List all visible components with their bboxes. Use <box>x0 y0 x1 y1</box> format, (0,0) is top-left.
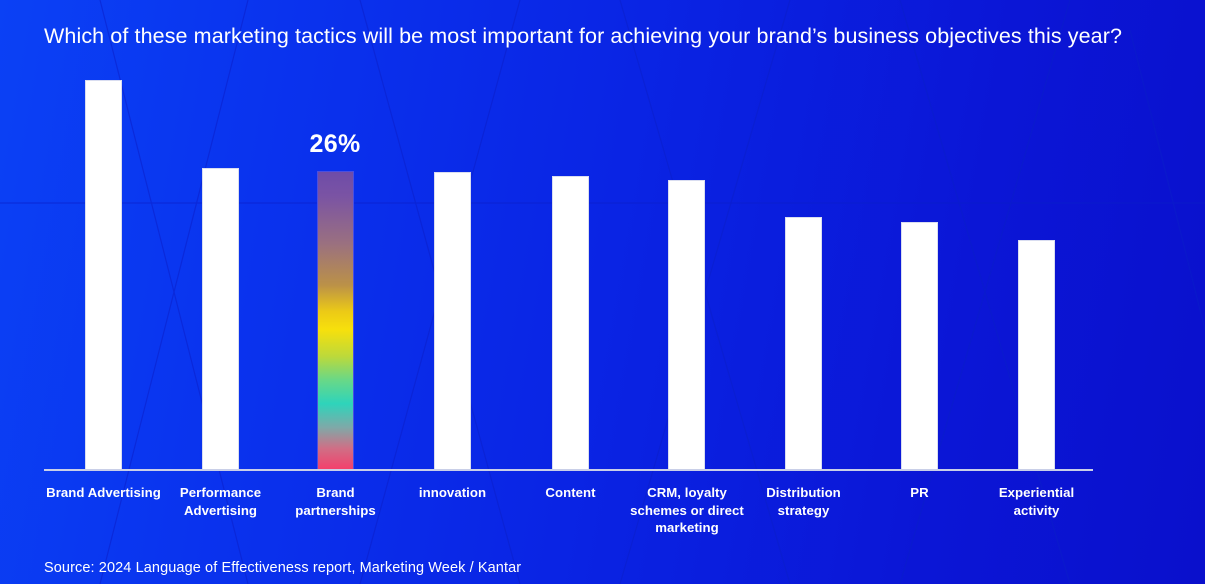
x-tick-label-distribution-strategy: Distribution strategy <box>743 484 864 519</box>
bar-value-label-brand-partnerships: 26% <box>275 130 395 159</box>
tick-line-1: Brand <box>275 484 396 502</box>
tick-line-3: marketing <box>620 519 754 537</box>
x-axis-line <box>44 469 1093 471</box>
x-tick-label-crm-loyalty: CRM, loyalty schemes or direct marketing <box>620 484 754 537</box>
bar-performance-advertising[interactable] <box>202 168 239 469</box>
bar-experiential-activity[interactable] <box>1018 240 1055 469</box>
x-tick-label-experiential-activity: Experiential activity <box>976 484 1097 519</box>
bar-brand-advertising[interactable] <box>85 80 122 469</box>
tick-line-1: Distribution <box>743 484 864 502</box>
x-tick-label-brand-advertising: Brand Advertising <box>43 484 164 502</box>
x-tick-label-innovation: innovation <box>392 484 513 502</box>
tick-line-1: CRM, loyalty <box>620 484 754 502</box>
tick-line-2: schemes or direct <box>620 502 754 520</box>
tick-line-1: Experiential <box>976 484 1097 502</box>
tick-line-1: Brand Advertising <box>43 484 164 502</box>
source-note: Source: 2024 Language of Effectiveness r… <box>44 560 521 576</box>
bar-brand-partnerships[interactable] <box>317 171 354 469</box>
x-tick-label-pr: PR <box>859 484 980 502</box>
x-tick-label-brand-partnerships: Brand partnerships <box>275 484 396 519</box>
tick-line-1: PR <box>859 484 980 502</box>
bar-distribution-strategy[interactable] <box>785 217 822 469</box>
x-tick-label-performance-advertising: Performance Advertising <box>160 484 281 519</box>
tick-line-1: Content <box>510 484 631 502</box>
tick-line-2: partnerships <box>275 502 396 520</box>
x-tick-label-content: Content <box>510 484 631 502</box>
slide-canvas: Which of these marketing tactics will be… <box>0 0 1205 584</box>
bar-innovation[interactable] <box>434 172 471 469</box>
bar-pr[interactable] <box>901 222 938 469</box>
tick-line-2: strategy <box>743 502 864 520</box>
tick-line-1: innovation <box>392 484 513 502</box>
bar-content[interactable] <box>552 176 589 469</box>
tick-line-1: Performance <box>160 484 281 502</box>
bar-chart-plot: 26% Brand Advertising Performance Advert… <box>0 0 1205 584</box>
tick-line-2: activity <box>976 502 1097 520</box>
tick-line-2: Advertising <box>160 502 281 520</box>
bar-crm-loyalty[interactable] <box>668 180 705 469</box>
